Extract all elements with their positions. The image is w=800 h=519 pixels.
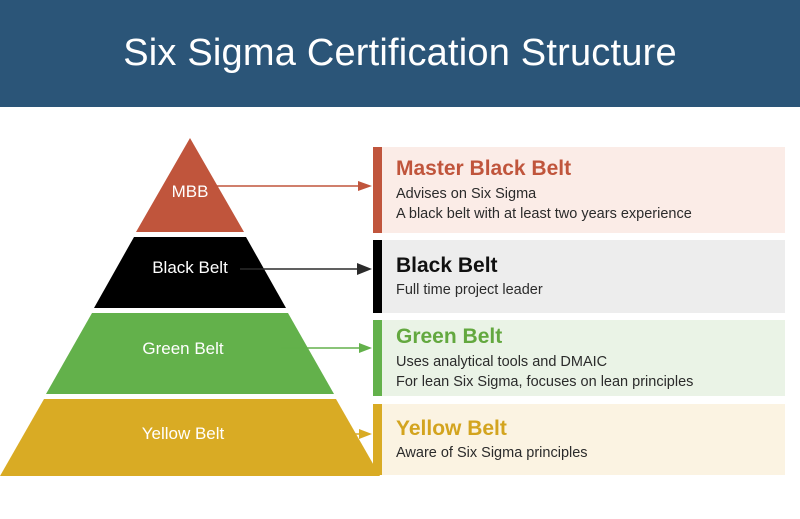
panel-accent-bar-green (373, 320, 382, 396)
pyramid-tier-mbb[interactable] (136, 138, 244, 232)
panel-line-black-1: Full time project leader (396, 280, 775, 300)
info-panel-green[interactable]: Green Belt Uses analytical tools and DMA… (373, 320, 785, 396)
info-panel-yellow[interactable]: Yellow Belt Aware of Six Sigma principle… (373, 404, 785, 475)
pyramid-diagram: MBB Black Belt Green Belt Yellow Belt (0, 107, 380, 519)
panel-body-green: Green Belt Uses analytical tools and DMA… (382, 320, 785, 396)
panel-line-green-2: For lean Six Sigma, focuses on lean prin… (396, 372, 775, 392)
panel-line-mbb-2: A black belt with at least two years exp… (396, 204, 775, 224)
info-panel-mbb[interactable]: Master Black Belt Advises on Six Sigma A… (373, 147, 785, 233)
panel-body-yellow: Yellow Belt Aware of Six Sigma principle… (382, 404, 785, 475)
page-title: Six Sigma Certification Structure (0, 0, 800, 107)
panel-line-mbb-1: Advises on Six Sigma (396, 184, 775, 204)
panel-accent-bar-mbb (373, 147, 382, 233)
panel-title-green: Green Belt (396, 324, 775, 349)
panel-accent-bar-black (373, 240, 382, 313)
pyramid-tier-black[interactable] (94, 237, 286, 308)
panel-title-black: Black Belt (396, 253, 775, 278)
panel-body-mbb: Master Black Belt Advises on Six Sigma A… (382, 147, 785, 233)
pyramid-tier-yellow[interactable] (0, 399, 380, 476)
panel-title-yellow: Yellow Belt (396, 416, 775, 441)
panel-line-yellow-1: Aware of Six Sigma principles (396, 443, 775, 463)
panel-title-mbb: Master Black Belt (396, 156, 775, 181)
panel-line-green-1: Uses analytical tools and DMAIC (396, 352, 775, 372)
infographic-canvas: Six Sigma Certification Structure MBB Bl… (0, 0, 800, 519)
panel-body-black: Black Belt Full time project leader (382, 240, 785, 313)
info-panel-black[interactable]: Black Belt Full time project leader (373, 240, 785, 313)
panel-accent-bar-yellow (373, 404, 382, 475)
pyramid-tier-green[interactable] (46, 313, 334, 394)
